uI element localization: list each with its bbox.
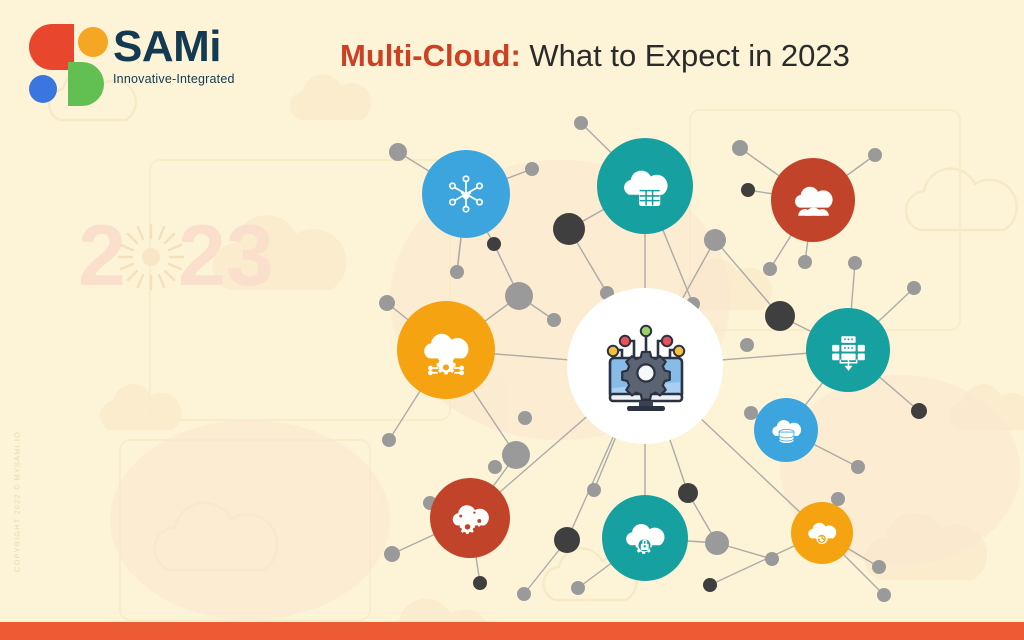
network-dot <box>703 578 717 592</box>
copyright-text: COPYRIGHT 2022 © MYSAMI.IO <box>13 422 22 582</box>
cloud-gear-circuit-icon[interactable] <box>416 320 476 380</box>
network-dot <box>848 256 862 270</box>
network-dot <box>765 552 779 566</box>
multi-cloud-network-diagram <box>0 0 1024 640</box>
network-dot <box>389 143 407 161</box>
server-rack-icon[interactable] <box>823 325 874 376</box>
network-hub-icon[interactable] <box>439 167 493 221</box>
monitor-gear-network-icon[interactable] <box>601 320 691 412</box>
network-dot <box>379 295 395 311</box>
network-dot <box>741 183 755 197</box>
network-dot <box>518 411 532 425</box>
cloud-database-icon[interactable] <box>767 411 806 450</box>
network-dot <box>868 148 882 162</box>
network-dot <box>517 587 531 601</box>
network-dot <box>678 483 698 503</box>
network-dot <box>547 313 561 327</box>
network-dot <box>877 588 891 602</box>
network-edge <box>715 240 780 316</box>
network-dot <box>574 116 588 130</box>
network-dot <box>740 338 754 352</box>
network-dot <box>450 265 464 279</box>
network-dot <box>384 546 400 562</box>
cloud-lock-icon[interactable] <box>619 512 671 564</box>
cloud-gears-icon[interactable] <box>446 494 495 543</box>
network-dot <box>763 262 777 276</box>
network-dot <box>798 255 812 269</box>
network-dot <box>525 162 539 176</box>
network-dot <box>831 492 845 506</box>
network-dot <box>732 140 748 156</box>
network-dot <box>554 527 580 553</box>
network-dot <box>382 433 396 447</box>
network-dot <box>744 406 758 420</box>
network-dot <box>851 460 865 474</box>
network-dot <box>488 460 502 474</box>
network-dot <box>487 237 501 251</box>
network-dot <box>587 483 601 497</box>
network-dot <box>872 560 886 574</box>
cloud-sync-icon[interactable] <box>803 514 841 552</box>
network-dot <box>765 301 795 331</box>
bottom-accent-bar <box>0 622 1024 640</box>
network-dot <box>907 281 921 295</box>
network-dot <box>553 213 585 245</box>
network-dot <box>571 581 585 595</box>
network-dot <box>502 441 530 469</box>
poster-canvas: 2 2 3 <box>0 0 1024 640</box>
cloud-calendar-icon[interactable] <box>616 157 675 216</box>
network-dot <box>704 229 726 251</box>
network-dot <box>705 531 729 555</box>
network-dot <box>505 282 533 310</box>
network-dot <box>911 403 927 419</box>
network-dot <box>473 576 487 590</box>
cloud-users-icon[interactable] <box>788 175 839 226</box>
